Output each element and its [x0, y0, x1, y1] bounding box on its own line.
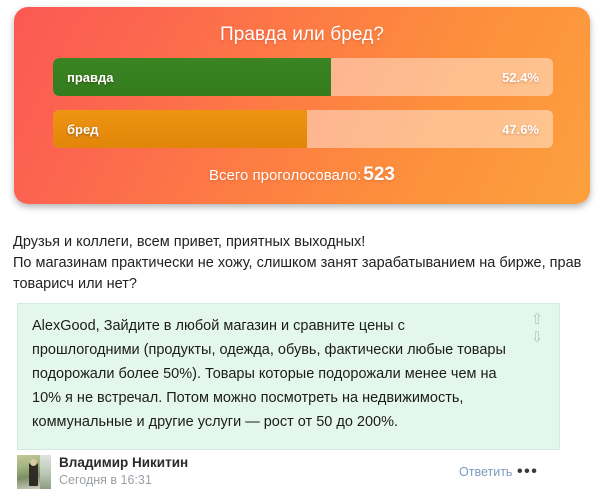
poll-title: Правда или бред? [14, 24, 590, 46]
poll-total-label: Всего проголосовало: [209, 167, 361, 184]
poll-answers-list: правда 52.4% бред 47.6% [53, 58, 553, 162]
avatar-background [40, 455, 51, 489]
upvote-arrow-icon[interactable]: ⇧ [531, 312, 544, 327]
poll-card: Правда или бред? правда 52.4% бред 47.6%… [14, 7, 590, 204]
comment-body-text: AlexGood, Зайдите в любой магазин и срав… [32, 314, 508, 434]
more-options-icon[interactable]: ••• [517, 463, 538, 481]
avatar-head [30, 459, 37, 466]
poll-option-bred-percent: 47.6% [502, 110, 539, 148]
poll-option-pravda-label: правда [67, 58, 114, 96]
poll-option-pravda[interactable]: правда 52.4% [53, 58, 553, 96]
vote-controls: ⇧ ⇩ [527, 312, 547, 348]
poll-total-votes: Всего проголосовало:523 [14, 164, 590, 186]
comment-author-name[interactable]: Владимир Никитин [59, 455, 188, 470]
poll-total-count: 523 [363, 164, 395, 185]
comment-footer: Владимир Никитин Сегодня в 16:31 Ответит… [17, 455, 587, 495]
poll-option-bred[interactable]: бред 47.6% [53, 110, 553, 148]
poll-option-pravda-percent: 52.4% [502, 58, 539, 96]
comment-timestamp: Сегодня в 16:31 [59, 473, 152, 487]
comment-bubble: AlexGood, Зайдите в любой магазин и срав… [17, 303, 560, 450]
avatar[interactable] [17, 455, 51, 489]
downvote-arrow-icon[interactable]: ⇩ [531, 330, 544, 345]
reply-button[interactable]: Ответить [459, 465, 512, 479]
poll-option-bred-label: бред [67, 110, 98, 148]
post-text: Друзья и коллеги, всем привет, приятных … [13, 232, 603, 295]
